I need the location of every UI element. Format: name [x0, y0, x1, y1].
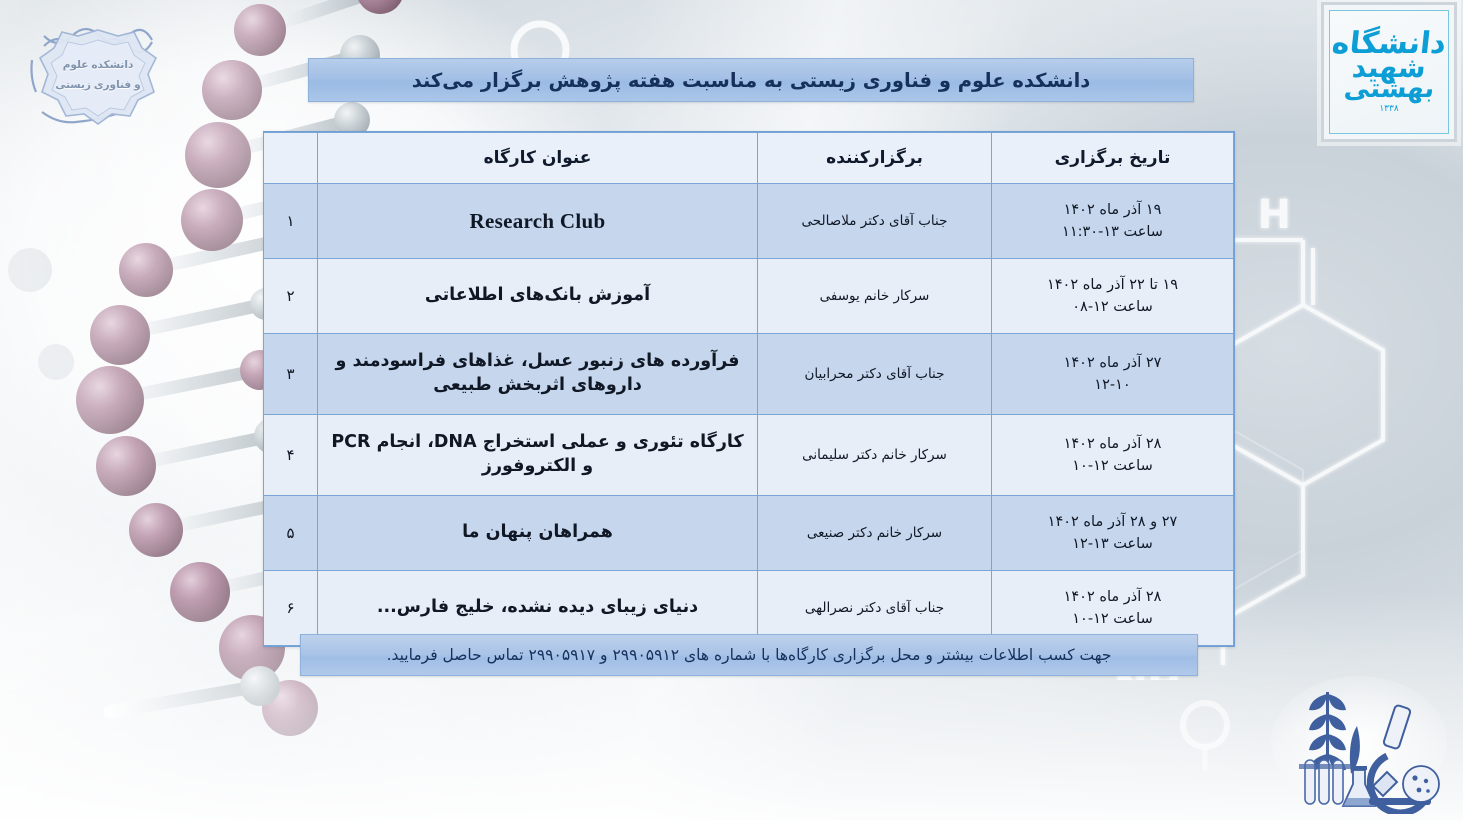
cell-date: ۱۹ آذر ماه ۱۴۰۲ ساعت ۱۳-۱۱:۳۰ — [992, 184, 1234, 259]
column-header-host: برگزارکننده — [758, 133, 992, 184]
faculty-seal-line2: و فناوری زیستی — [55, 78, 140, 92]
contact-info-banner: جهت کسب اطلاعات بیشتر و محل برگزاری کارگ… — [300, 634, 1198, 676]
cell-number: ۵ — [264, 496, 318, 571]
faculty-seal-text: دانشکده علوم و فناوری زیستی — [18, 16, 178, 134]
cell-number: ۳ — [264, 334, 318, 415]
petri-dish-icon — [1403, 766, 1439, 802]
cell-date-line1: ۱۹ آذر ماه ۱۴۰۲ — [1000, 199, 1225, 221]
cell-title: Research Club — [318, 184, 758, 259]
cell-date: ۲۷ و ۲۸ آذر ماه ۱۴۰۲ ساعت ۱۳-۱۲ — [992, 496, 1234, 571]
contact-info-text: جهت کسب اطلاعات بیشتر و محل برگزاری کارگ… — [387, 646, 1112, 664]
cell-date: ۲۸ آذر ماه ۱۴۰۲ ساعت ۱۲-۱۰ — [992, 415, 1234, 496]
cell-date-line2: ساعت ۱۳-۱۲ — [1000, 533, 1225, 555]
column-header-title: عنوان کارگاه — [318, 133, 758, 184]
table-body: ۱۹ آذر ماه ۱۴۰۲ ساعت ۱۳-۱۱:۳۰ جناب آقای … — [264, 184, 1234, 646]
cell-host: سرکار خانم دکتر صنیعی — [758, 496, 992, 571]
cell-date-line1: ۲۷ آذر ماه ۱۴۰۲ — [1000, 352, 1225, 374]
workshop-schedule-table-wrapper: تاریخ برگزاری برگزارکننده عنوان کارگاه ۱… — [263, 131, 1235, 647]
biotech-illustration-logo — [1269, 664, 1449, 814]
cell-date-line2: ساعت ۱۳-۱۱:۳۰ — [1000, 221, 1225, 243]
title-banner: دانشکده علوم و فناوری زیستی به مناسبت هف… — [308, 58, 1194, 102]
cell-host: سرکار خانم یوسفی — [758, 259, 992, 334]
cell-title: کارگاه تئوری و عملی استخراج DNA، انجام P… — [318, 415, 758, 496]
cell-host: جناب آقای دکتر محرابیان — [758, 334, 992, 415]
table-row: ۲۸ آذر ماه ۱۴۰۲ ساعت ۱۲-۱۰ سرکار خانم دک… — [264, 415, 1234, 496]
test-tubes-icon — [1299, 760, 1351, 804]
cell-title: آموزش بانک‌های اطلاعاتی — [318, 259, 758, 334]
university-logo: دانشگاه شهید بهشتی ۱۳۳۸ — [1321, 2, 1457, 142]
column-header-num — [264, 133, 318, 184]
table-row: ۲۷ آذر ماه ۱۴۰۲ ۱۲-۱۰ جناب آقای دکتر محر… — [264, 334, 1234, 415]
cell-number: ۲ — [264, 259, 318, 334]
cell-date-line2: ساعت ۱۲-۱۰ — [1000, 455, 1225, 477]
cell-date: ۱۹ تا ۲۲ آذر ماه ۱۴۰۲ ساعت ۱۲-۰۸ — [992, 259, 1234, 334]
table-row: ۱۹ تا ۲۲ آذر ماه ۱۴۰۲ ساعت ۱۲-۰۸ سرکار خ… — [264, 259, 1234, 334]
cell-title: فرآورده های زنبور عسل، غذاهای فراسودمند … — [318, 334, 758, 415]
cell-date-line1: ۱۹ تا ۲۲ آذر ماه ۱۴۰۲ — [1000, 274, 1225, 296]
poster-canvas: CH 3 H NH — [0, 0, 1463, 820]
cell-host: سرکار خانم دکتر سلیمانی — [758, 415, 992, 496]
cell-date-line1: ۲۸ آذر ماه ۱۴۰۲ — [1000, 586, 1225, 608]
table-row: ۲۷ و ۲۸ آذر ماه ۱۴۰۲ ساعت ۱۳-۱۲ سرکار خا… — [264, 496, 1234, 571]
cell-date-line1: ۲۸ آذر ماه ۱۴۰۲ — [1000, 433, 1225, 455]
table-row: ۱۹ آذر ماه ۱۴۰۲ ساعت ۱۳-۱۱:۳۰ جناب آقای … — [264, 184, 1234, 259]
table-header-row: تاریخ برگزاری برگزارکننده عنوان کارگاه — [264, 133, 1234, 184]
cell-date-line2: ۱۲-۱۰ — [1000, 374, 1225, 396]
column-header-date: تاریخ برگزاری — [992, 133, 1234, 184]
university-logo-year: ۱۳۳۸ — [1379, 103, 1398, 114]
faculty-seal-line1: دانشکده علوم — [63, 58, 134, 72]
cell-date: ۲۷ آذر ماه ۱۴۰۲ ۱۲-۱۰ — [992, 334, 1234, 415]
cell-number: ۱ — [264, 184, 318, 259]
cell-title: همراهان پنهان ما — [318, 496, 758, 571]
table-head: تاریخ برگزاری برگزارکننده عنوان کارگاه — [264, 133, 1234, 184]
university-logo-word3: بهشتی — [1343, 78, 1435, 102]
cell-date-line2: ساعت ۱۲-۰۸ — [1000, 296, 1225, 318]
cell-number: ۴ — [264, 415, 318, 496]
title-banner-text: دانشکده علوم و فناوری زیستی به مناسبت هف… — [412, 69, 1091, 92]
university-logo-inner: دانشگاه شهید بهشتی ۱۳۳۸ — [1329, 10, 1449, 134]
faculty-seal-logo: دانشکده علوم و فناوری زیستی — [18, 16, 178, 134]
workshop-schedule-table: تاریخ برگزاری برگزارکننده عنوان کارگاه ۱… — [263, 132, 1234, 646]
cell-date-line2: ساعت ۱۲-۱۰ — [1000, 608, 1225, 630]
cell-date-line1: ۲۷ و ۲۸ آذر ماه ۱۴۰۲ — [1000, 511, 1225, 533]
cell-host: جناب آقای دکتر ملاصالحی — [758, 184, 992, 259]
